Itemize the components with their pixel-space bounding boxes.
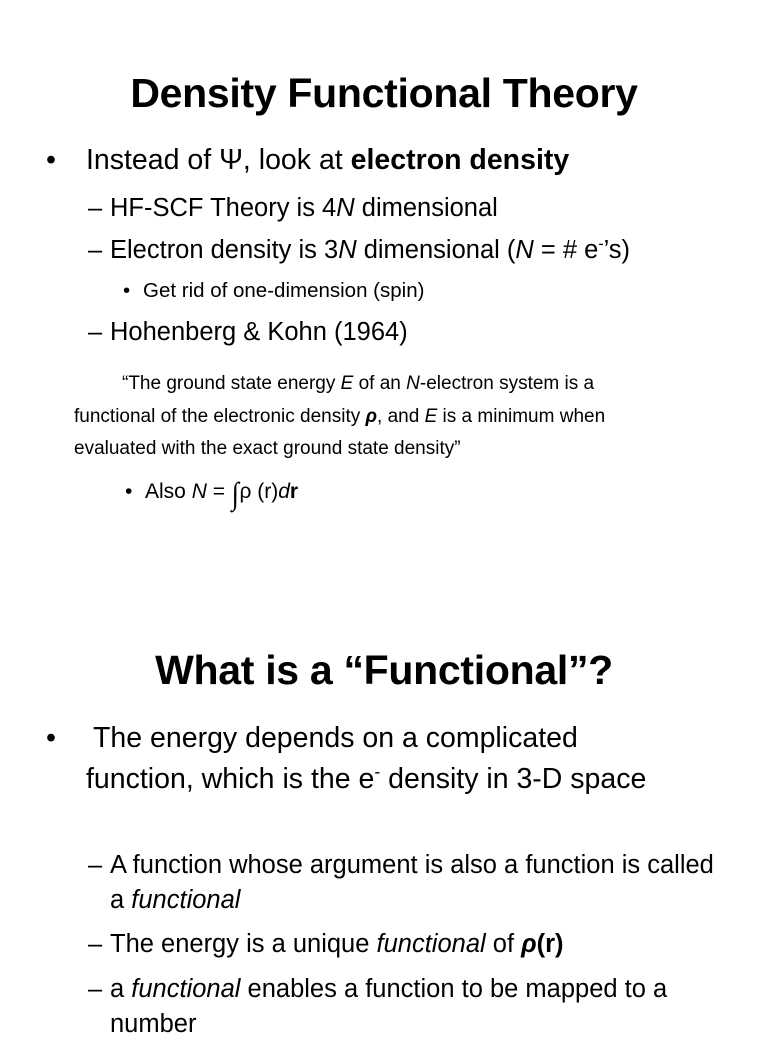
- text-part-b: dimensional (: [357, 236, 516, 264]
- italic-functional: functional: [131, 975, 240, 1003]
- bold-paren-r: (r): [537, 930, 564, 958]
- quote-seg-4: , and: [377, 406, 425, 427]
- bullet-marker-dash: –: [88, 234, 102, 267]
- slide1-formula-also-n-text: Also N = ∫ρ (r)dr: [145, 478, 685, 505]
- text-part-c: = # e: [534, 236, 599, 264]
- formula-seg-2: =: [207, 480, 231, 503]
- slide1-sub-hohenberg-kohn: – Hohenberg & Kohn (1964): [88, 316, 748, 349]
- slide1-hohenberg-kohn-quote: “The ground state energy E of an N-elect…: [74, 368, 674, 466]
- formula-seg-3: (r): [251, 480, 278, 503]
- formula-seg-1: Also: [145, 480, 192, 503]
- bullet-marker-dot: •: [125, 478, 132, 505]
- slide1-bullet-electron-density: • Instead of Ψ, look at electron density: [46, 142, 746, 179]
- text-seg-1: The energy is a unique: [110, 930, 377, 958]
- text-seg-1: a: [110, 975, 131, 1003]
- italic-n: N: [336, 194, 354, 222]
- slide1-sub-electron-density-3n: – Electron density is 3N dimensional (N …: [88, 234, 768, 267]
- bullet-marker-dot: •: [46, 142, 56, 179]
- bullet-marker-dash: –: [88, 848, 102, 883]
- bullet-marker-dash: –: [88, 192, 102, 225]
- slide1-sub-hf-scf-text: HF-SCF Theory is 4N dimensional: [110, 192, 748, 225]
- bullet-marker-dash: –: [88, 928, 102, 961]
- slide2-sub-unique-functional: – The energy is a unique functional of ρ…: [88, 928, 728, 961]
- text-part-a: HF-SCF Theory is 4: [110, 194, 336, 222]
- italic-n: N: [192, 480, 207, 503]
- slide1-sub-electron-density-3n-text: Electron density is 3N dimensional (N = …: [110, 234, 768, 267]
- text-part-d: ’s): [604, 236, 630, 264]
- bold-r: r: [290, 480, 298, 503]
- bullet-marker-dot: •: [46, 718, 56, 759]
- text-bold-electron-density: electron density: [351, 144, 570, 176]
- bullet-marker-dash: –: [88, 972, 102, 1007]
- slide2-bullet-energy-depends-text: The energy depends on a complicated func…: [86, 718, 686, 801]
- italic-n-2: N: [515, 236, 533, 264]
- quote-seg-1: “The ground state energy: [122, 373, 341, 394]
- italic-n-1: N: [338, 236, 356, 264]
- italic-functional: functional: [377, 930, 486, 958]
- text-seg-2: of: [486, 930, 521, 958]
- slide1-title: Density Functional Theory: [0, 72, 768, 115]
- slide1-formula-also-n: • Also N = ∫ρ (r)dr: [125, 478, 685, 505]
- bullet-marker-dot: •: [123, 278, 130, 305]
- formula-rho: ρ: [239, 480, 251, 503]
- slide1-sub-get-rid-of-spin-text: Get rid of one-dimension (spin): [143, 278, 723, 305]
- italic-e-2: E: [425, 406, 438, 427]
- slide1-sub-hohenberg-kohn-text: Hohenberg & Kohn (1964): [110, 316, 748, 349]
- bullet-marker-dash: –: [88, 316, 102, 349]
- text-lead: Instead of Ψ, look at: [86, 144, 351, 176]
- quote-seg-2: of an: [353, 373, 406, 394]
- slide2-sub-unique-functional-text: The energy is a unique functional of ρ(r…: [110, 928, 728, 961]
- slide2-sub-function-argument-text: A function whose argument is also a func…: [110, 848, 728, 918]
- text-part-a: Electron density is 3: [110, 236, 338, 264]
- text-part-b: dimensional: [355, 194, 498, 222]
- italic-e-1: E: [341, 373, 354, 394]
- italic-n: N: [406, 373, 420, 394]
- italic-d: d: [278, 480, 290, 503]
- slide2-sub-functional-maps: – a functional enables a function to be …: [88, 972, 748, 1042]
- slide2-bullet-energy-depends: • The energy depends on a complicated fu…: [46, 718, 686, 801]
- slide1-sub-get-rid-of-spin: • Get rid of one-dimension (spin): [123, 278, 723, 305]
- bold-italic-rho: ρ: [521, 930, 536, 958]
- bold-italic-rho: ρ: [366, 406, 378, 427]
- slide-page: Density Functional Theory • Instead of Ψ…: [0, 0, 768, 1024]
- italic-functional: functional: [131, 886, 240, 914]
- slide1-bullet-electron-density-text: Instead of Ψ, look at electron density: [86, 142, 746, 179]
- slide2-sub-functional-maps-text: a functional enables a function to be ma…: [110, 972, 748, 1042]
- slide2-title: What is a “Functional”?: [0, 649, 768, 692]
- text-seg-2: density in 3-D space: [380, 763, 646, 795]
- slide1-sub-hf-scf: – HF-SCF Theory is 4N dimensional: [88, 192, 748, 225]
- slide2-sub-function-argument: – A function whose argument is also a fu…: [88, 848, 728, 918]
